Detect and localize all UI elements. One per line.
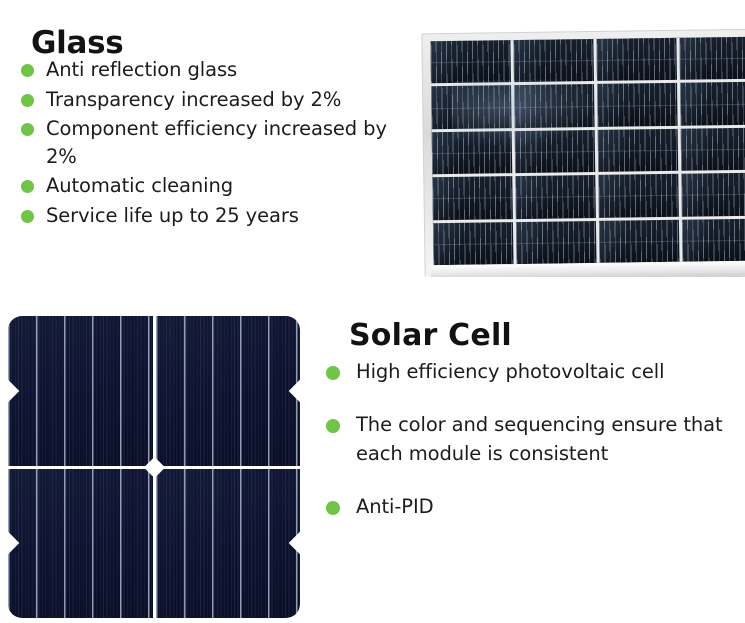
list-item: Service life up to 25 years <box>18 202 418 230</box>
panel-cell <box>598 174 679 218</box>
panel-cell <box>599 219 680 263</box>
panel-cell <box>515 130 596 174</box>
cell-chamfer-notch <box>289 532 300 555</box>
glass-heading: Glass <box>31 26 123 60</box>
solar-cell-closeup-image <box>0 305 302 621</box>
panel-cell <box>597 83 678 127</box>
list-item: Transparency increased by 2% <box>18 86 418 114</box>
cell-chamfer-notch <box>289 379 300 402</box>
solar-cell-heading: Solar Cell <box>349 319 512 352</box>
list-item: Anti reflection glass <box>18 56 418 84</box>
bullet-dot-icon <box>21 210 34 223</box>
panel-cell <box>682 218 745 262</box>
panel-cell <box>680 82 745 126</box>
list-item: Component efficiency increased by 2% <box>18 115 418 170</box>
bullet-dot-icon <box>21 123 34 136</box>
list-item-label: Anti-PID <box>356 495 434 518</box>
panel-cell <box>681 127 745 171</box>
bullet-dot-icon <box>326 366 340 380</box>
list-item: Anti-PID <box>320 492 745 521</box>
bullet-dot-icon <box>326 419 340 433</box>
list-item: High efficiency photovoltaic cell <box>320 357 745 386</box>
panel-cell <box>514 84 595 128</box>
panel-cell <box>431 86 512 130</box>
list-item-label: Anti reflection glass <box>46 58 237 81</box>
solar-panel-module-image <box>419 25 745 277</box>
bullet-dot-icon <box>21 94 34 107</box>
panel-cell <box>513 39 594 83</box>
list-item-label: Transparency increased by 2% <box>46 88 341 111</box>
solar-cell-unit <box>156 469 301 619</box>
solar-cell-unit <box>8 469 153 619</box>
panel-cell <box>430 40 511 84</box>
panel-cell <box>596 38 677 82</box>
list-item-label: High efficiency photovoltaic cell <box>356 360 664 383</box>
list-item: The color and sequencing ensure that eac… <box>320 410 745 468</box>
list-item-label: Service life up to 25 years <box>46 204 299 227</box>
list-item-label: Component efficiency increased by 2% <box>46 117 387 168</box>
bullet-dot-icon <box>326 501 340 515</box>
list-item-label: Automatic cleaning <box>46 174 233 197</box>
glass-feature-list: Anti reflection glass Transparency incre… <box>18 56 418 231</box>
solar-cell-unit <box>8 316 153 466</box>
bullet-dot-icon <box>21 180 34 193</box>
solar-cell-feature-list: High efficiency photovoltaic cell The co… <box>320 357 745 545</box>
panel-cell <box>679 37 745 81</box>
solar-cell-unit <box>156 316 301 466</box>
panel-cell <box>432 176 513 220</box>
list-item-label: The color and sequencing ensure that eac… <box>356 413 723 465</box>
solar-cell-section: Solar Cell High efficiency photovoltaic … <box>320 295 745 545</box>
list-item: Automatic cleaning <box>18 172 418 200</box>
panel-cell <box>516 221 597 265</box>
cell-chamfer-notch <box>8 379 19 402</box>
panel-cell <box>433 222 514 266</box>
panel-cell-grid <box>430 37 745 266</box>
panel-cell <box>598 129 679 173</box>
panel-glass-surface <box>430 37 745 266</box>
panel-cell <box>515 175 596 219</box>
solar-cell-quad-grid <box>8 316 300 618</box>
cell-chamfer-notch <box>8 532 19 555</box>
panel-cell <box>681 173 745 217</box>
glass-section: Glass Anti reflection glass Transparency… <box>0 0 420 285</box>
panel-aluminium-frame <box>421 29 745 277</box>
bullet-dot-icon <box>21 64 34 77</box>
panel-cell <box>432 131 513 175</box>
